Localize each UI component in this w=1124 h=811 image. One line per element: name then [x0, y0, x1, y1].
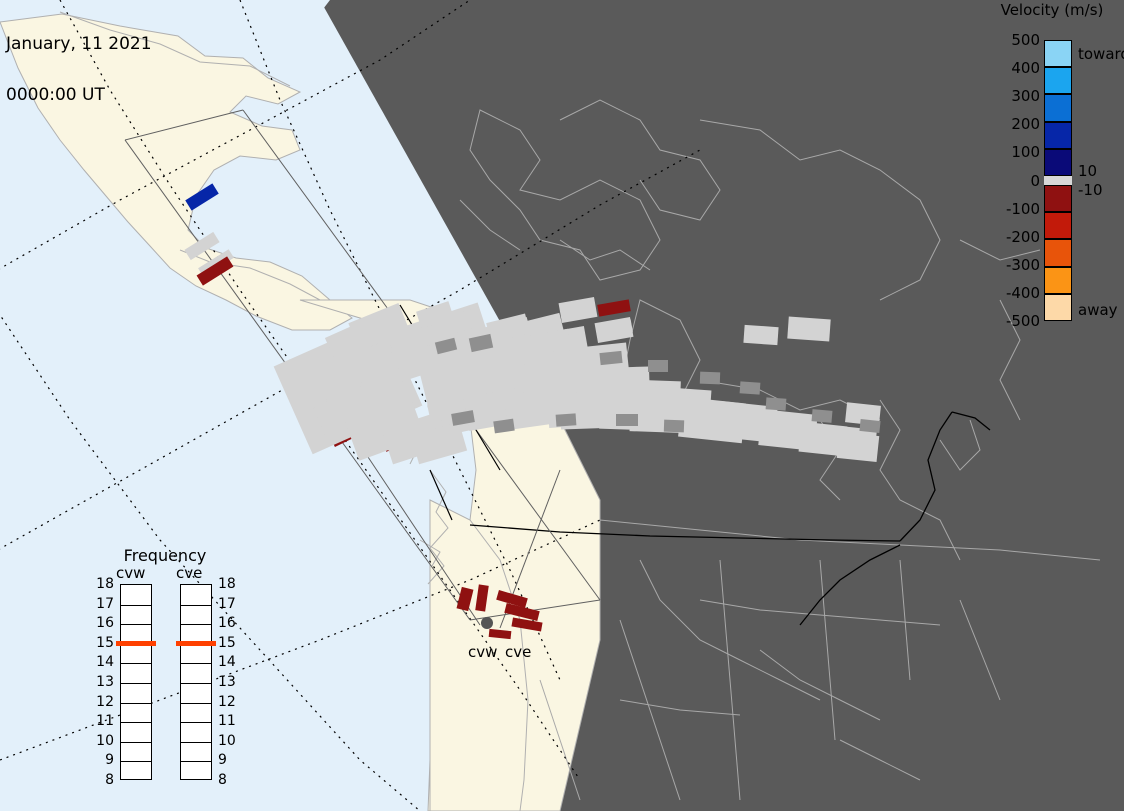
colorbar-segment--55	[1044, 185, 1072, 212]
colorbar-tick--500: -500	[986, 314, 1040, 329]
colorbar-tick--200: -200	[986, 230, 1040, 245]
colorbar-tick-200: 200	[986, 117, 1040, 132]
frequency-tick-cve-8: 8	[218, 773, 244, 787]
frequency-tick-cvw-16: 16	[88, 616, 114, 630]
colorbar-label-away: away	[1078, 303, 1118, 318]
low-power-cell	[700, 372, 720, 385]
colorbar-side-labels: toward10-10away	[1078, 0, 1124, 811]
frequency-marker-cvw	[116, 641, 156, 646]
frequency-tick-cve-10: 10	[218, 734, 244, 748]
colorbar-segment-350	[1044, 67, 1072, 94]
colorbar-tick--100: -100	[986, 202, 1040, 217]
frequency-tick-cve-13: 13	[218, 675, 244, 689]
low-power-cell	[616, 414, 638, 426]
frequency-tick-cve-9: 9	[218, 753, 244, 767]
frequency-column-cve[interactable]	[180, 584, 212, 780]
frequency-tick-cve-16: 16	[218, 616, 244, 630]
colorbar-segment-0	[1044, 176, 1072, 185]
colorbar-segment-150	[1044, 122, 1072, 149]
frequency-gridline	[181, 761, 211, 762]
colorbar-segment--350	[1044, 267, 1072, 294]
frequency-gridline	[121, 742, 151, 743]
frequency-gridline	[121, 722, 151, 723]
frequency-gridline	[181, 742, 211, 743]
frequency-tick-cvw-9: 9	[88, 753, 114, 767]
colorbar-tick--400: -400	[986, 286, 1040, 301]
frequency-gridline	[181, 703, 211, 704]
title-time: 0000:00 UT	[6, 87, 152, 104]
frequency-tick-cve-14: 14	[218, 655, 244, 669]
colorbar-tick--300: -300	[986, 258, 1040, 273]
frequency-tick-cvw-12: 12	[88, 695, 114, 709]
frequency-gridline	[121, 683, 151, 684]
colorbar-label-10: 10	[1078, 164, 1097, 179]
frequency-tick-cvw-11: 11	[88, 714, 114, 728]
colorbar-tick-400: 400	[986, 61, 1040, 76]
radar-site-marker	[481, 617, 493, 629]
colorbar-tick-100: 100	[986, 145, 1040, 160]
colorbar-label-neg10: -10	[1078, 183, 1103, 198]
colorbar-label-toward: toward	[1078, 47, 1124, 62]
colorbar-tick-0: 0	[986, 174, 1040, 189]
frequency-gridline	[121, 663, 151, 664]
colorbar-tick-300: 300	[986, 89, 1040, 104]
colorbar-tick-labels: 5004003002001000-100-200-300-400-500	[980, 0, 1040, 811]
low-power-cell	[648, 360, 668, 372]
frequency-gridline	[121, 624, 151, 625]
frequency-gridline	[181, 683, 211, 684]
frequency-tick-cve-11: 11	[218, 714, 244, 728]
frequency-gridline	[121, 761, 151, 762]
colorbar-segment--250	[1044, 239, 1072, 266]
frequency-gridline	[181, 624, 211, 625]
frequency-legend: Frequency cvwcve181817171616151514141313…	[90, 548, 240, 794]
frequency-gridline	[121, 703, 151, 704]
frequency-tick-cvw-15: 15	[88, 636, 114, 650]
colorbar-segment--150	[1044, 212, 1072, 239]
frequency-tick-cvw-14: 14	[88, 655, 114, 669]
colorbar-segment-450	[1044, 40, 1072, 67]
frequency-tick-cvw-17: 17	[88, 597, 114, 611]
low-power-cell	[740, 381, 761, 394]
frequency-tick-cve-18: 18	[218, 577, 244, 591]
low-power-cell	[812, 409, 833, 423]
frequency-gridline	[181, 605, 211, 606]
velocity-colorbar	[1044, 40, 1072, 321]
colorbar-segment-55	[1044, 149, 1072, 176]
frequency-tick-cvw-18: 18	[88, 577, 114, 591]
low-power-cell	[556, 413, 577, 426]
low-power-cell	[664, 420, 684, 433]
frequency-column-header-cvw: cvw	[116, 566, 145, 581]
colorbar-segment--450	[1044, 294, 1072, 321]
title-date: January, 11 2021	[6, 36, 152, 53]
site-label-cvw: cvw	[468, 645, 497, 660]
frequency-gridline	[181, 722, 211, 723]
colorbar-segment-250	[1044, 94, 1072, 121]
frequency-tick-cvw-13: 13	[88, 675, 114, 689]
frequency-gridline	[121, 605, 151, 606]
frequency-gridline	[181, 663, 211, 664]
frequency-column-cvw[interactable]	[120, 584, 152, 780]
radar-map-figure: January, 11 2021 0000:00 UT Velocity (m/…	[0, 0, 1124, 811]
frequency-tick-cve-12: 12	[218, 695, 244, 709]
frequency-marker-cve	[176, 641, 216, 646]
low-power-cell	[766, 397, 787, 410]
frequency-tick-cve-15: 15	[218, 636, 244, 650]
frequency-column-header-cve: cve	[176, 566, 202, 581]
ground-scatter-cell	[787, 317, 830, 342]
frequency-tick-cve-17: 17	[218, 597, 244, 611]
frequency-legend-title: Frequency	[90, 548, 240, 564]
site-label-cve: cve	[505, 645, 531, 660]
ground-scatter-cell	[743, 325, 778, 345]
colorbar-tick-500: 500	[986, 33, 1040, 48]
low-power-cell	[599, 351, 622, 365]
frequency-tick-cvw-10: 10	[88, 734, 114, 748]
low-power-cell	[859, 419, 880, 433]
figure-title: January, 11 2021 0000:00 UT	[6, 2, 152, 138]
frequency-tick-cvw-8: 8	[88, 773, 114, 787]
